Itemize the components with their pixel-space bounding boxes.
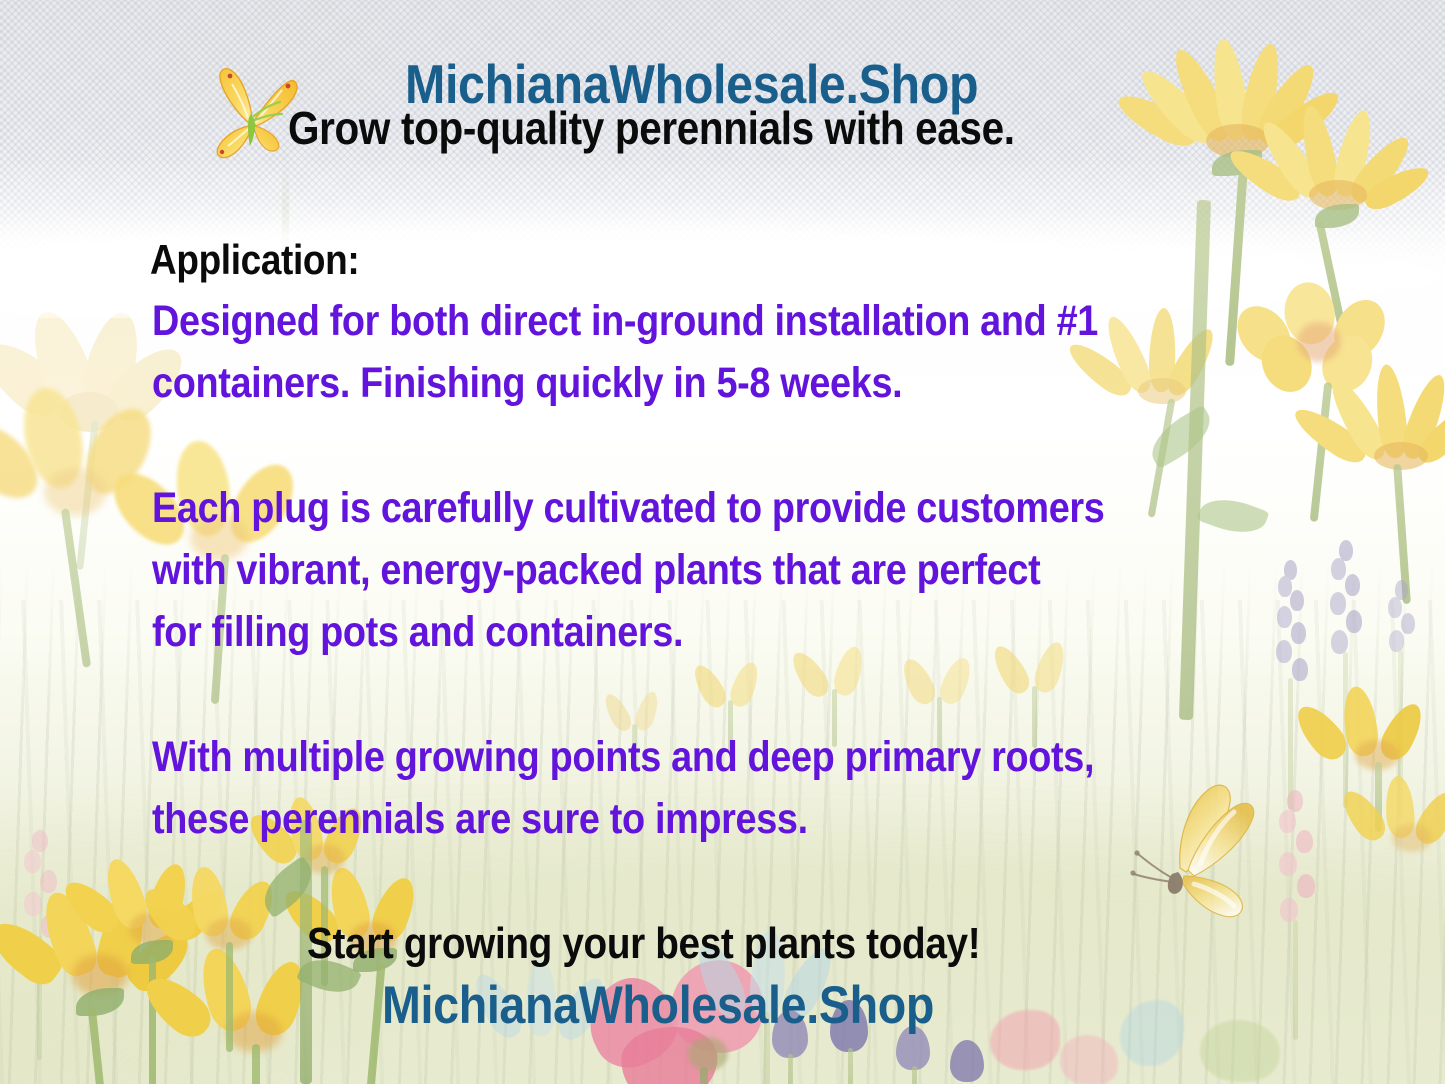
decor-flower-daisy	[1120, 40, 1330, 240]
decor-pink-spike	[1275, 790, 1319, 1040]
body-line: Designed for both direct in-ground insta…	[152, 297, 1098, 346]
body-line: With multiple growing points and deep pr…	[152, 733, 1094, 782]
decor-flower-daisy	[1350, 770, 1445, 910]
decor-leaf	[1197, 490, 1270, 543]
footer-brand: MichianaWholesale.Shop	[382, 975, 934, 1036]
decor-blob-blue	[1120, 1000, 1184, 1066]
decor-flower-daisy	[1320, 360, 1445, 540]
decor-lavender-spike	[1383, 580, 1423, 820]
body-line: with vibrant, energy-packed plants that …	[152, 546, 1040, 595]
decor-flower-daisy	[10, 880, 200, 1070]
decor-blob-pink	[990, 1010, 1060, 1070]
decor-stem	[1179, 200, 1211, 720]
poster-canvas: MichianaWholesale.Shop Grow top-quality …	[0, 0, 1445, 1084]
decor-lavender-spike	[1272, 560, 1312, 810]
decor-leaf	[1142, 405, 1220, 469]
decor-blob-pink	[1060, 1035, 1118, 1084]
decor-pink-spike	[20, 830, 64, 1060]
butterfly-icon	[198, 62, 302, 168]
body-line: for filling pots and containers.	[152, 608, 683, 657]
body-line: Each plug is carefully cultivated to pro…	[152, 484, 1104, 533]
decor-flower-daisy	[1245, 100, 1435, 290]
decor-blob-green	[1200, 1020, 1280, 1082]
footer-cta: Start growing your best plants today!	[307, 919, 980, 969]
body-line: containers. Finishing quickly in 5-8 wee…	[152, 359, 902, 408]
decor-flower-bud	[942, 1040, 996, 1084]
decor-flower-small	[800, 645, 870, 745]
decor-flower-daisy	[1305, 680, 1445, 830]
decor-lavender-spike	[1325, 540, 1369, 810]
header-tagline: Grow top-quality perennials with ease.	[288, 101, 1015, 155]
decor-flower-round	[1225, 270, 1405, 440]
application-heading: Application:	[150, 236, 359, 284]
decor-flower-daisy	[75, 850, 245, 1020]
butterfly-icon	[1108, 772, 1298, 932]
body-line: these perennials are sure to impress.	[152, 795, 808, 844]
